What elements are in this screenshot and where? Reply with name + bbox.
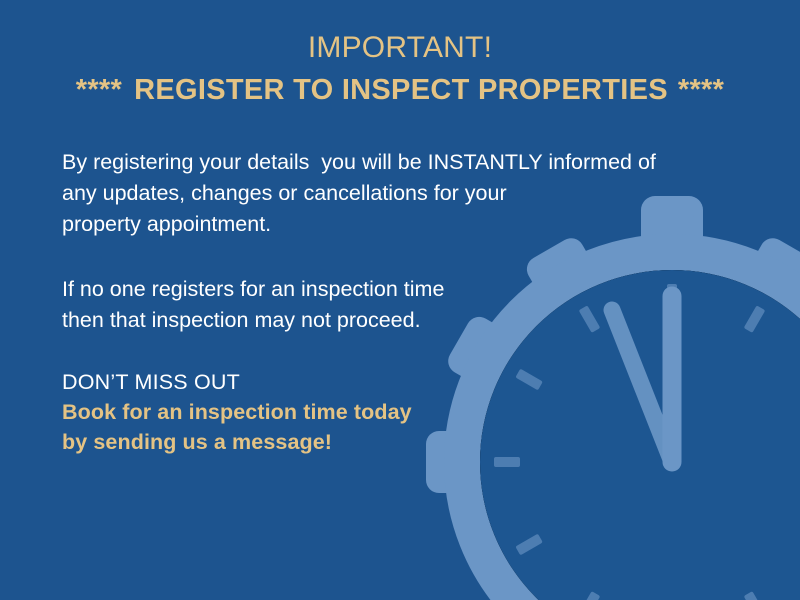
cta-send-message: by sending us a message! — [62, 427, 412, 457]
headline-register-text: REGISTER TO INSPECT PROPERTIES — [134, 74, 668, 106]
headline-important: IMPORTANT! — [0, 31, 800, 64]
stars-right-decoration: **** — [678, 74, 724, 106]
promotional-slide: IMPORTANT! ****REGISTER TO INSPECT PROPE… — [0, 0, 800, 600]
text-layer: IMPORTANT! ****REGISTER TO INSPECT PROPE… — [0, 0, 800, 600]
call-to-action-block: DON’T MISS OUT Book for an inspection ti… — [62, 367, 412, 457]
cta-book-inspection: Book for an inspection time today — [62, 397, 412, 427]
body-paragraph-registering: By registering your details you will be … — [62, 147, 656, 240]
body-paragraph-no-registrations: If no one registers for an inspection ti… — [62, 274, 444, 336]
stars-left-decoration: **** — [76, 74, 122, 106]
headline-register: ****REGISTER TO INSPECT PROPERTIES**** — [0, 75, 800, 107]
cta-dont-miss-out: DON’T MISS OUT — [62, 367, 412, 397]
